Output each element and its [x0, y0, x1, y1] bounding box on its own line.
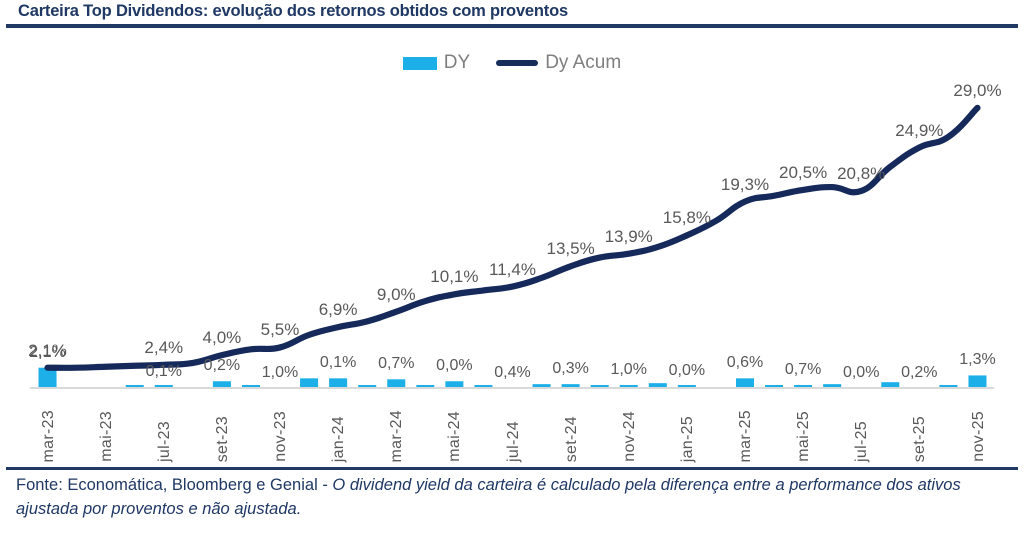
legend-item-label: DY [444, 52, 470, 74]
line-data-label-nov-25: 29,0% [953, 81, 1001, 101]
bar-mar-25 [736, 378, 754, 388]
page-title: Carteira Top Dividendos: evolução dos re… [18, 2, 568, 21]
bar-mar-24 [387, 379, 405, 388]
bar-data-label-nov-23: 1,0% [262, 364, 298, 382]
legend-item-dy-acum[interactable]: Dy Acum [496, 52, 621, 74]
x-tick-mai-24: mai-24 [446, 411, 464, 462]
footnote-prefix: Fonte: Economática, Bloomberg e Genial - [16, 476, 332, 494]
legend-bar-swatch-icon [403, 57, 437, 70]
bar-dez-23 [300, 378, 318, 388]
bar-jan-24 [329, 378, 347, 388]
line-series-dy-acum [48, 108, 978, 368]
footer-divider [6, 467, 1018, 470]
line-data-label-mai-24: 10,1% [430, 267, 478, 287]
chart-legend: DY Dy Acum [0, 52, 1024, 74]
bar-data-label-jan-25: 0,0% [669, 362, 705, 380]
legend-item-dy[interactable]: DY [403, 52, 470, 74]
bar-data-label-mar-24: 0,7% [378, 355, 414, 373]
legend-item-label: Dy Acum [545, 52, 621, 74]
x-tick-nov-24: nov-24 [621, 411, 639, 462]
bar-data-label-mar-25: 0,6% [727, 354, 763, 372]
x-axis-tick-labels: mar-23mai-23jul-23set-23nov-23jan-24mar-… [0, 392, 1024, 462]
line-data-label-mai-25: 20,5% [779, 163, 827, 183]
bar-data-label-jul-24: 0,4% [494, 364, 530, 382]
x-tick-set-24: set-24 [563, 416, 581, 462]
x-tick-nov-25: nov-25 [970, 411, 988, 462]
bar-data-label-mai-24: 0,0% [436, 357, 472, 375]
x-tick-mai-23: mai-23 [98, 411, 116, 462]
header-divider [6, 24, 1018, 28]
x-tick-jan-24: jan-24 [330, 416, 348, 462]
line-data-label-jul-24: 11,4% [489, 260, 536, 280]
x-tick-mar-25: mar-25 [737, 410, 755, 462]
bar-mai-24 [445, 381, 463, 388]
x-tick-set-25: set-25 [911, 416, 929, 462]
line-data-label-jan-24: 6,9% [319, 300, 358, 320]
x-tick-nov-23: nov-23 [272, 411, 290, 462]
chart-header: Carteira Top Dividendos: evolução dos re… [0, 0, 1024, 30]
bar-data-label-set-23: 0,2% [204, 357, 240, 375]
x-tick-jul-24: jul-24 [505, 421, 523, 462]
x-tick-set-23: set-23 [214, 416, 232, 462]
bar-data-label-mar-23: 2,1% [29, 344, 65, 362]
bar-data-label-set-24: 0,3% [552, 360, 588, 378]
line-data-label-nov-23: 5,5% [261, 320, 300, 340]
legend-line-swatch-icon [496, 60, 538, 66]
bar-data-label-nov-24: 1,0% [610, 361, 646, 379]
line-data-label-mar-24: 9,0% [377, 285, 416, 305]
x-tick-jan-25: jan-25 [679, 416, 697, 462]
line-data-label-jul-25: 20,8% [837, 164, 885, 184]
chart-plot-area: 2,1%2,4%4,0%5,5%6,9%9,0%10,1%11,4%13,5%1… [0, 80, 1024, 392]
bar-nov-25 [968, 375, 986, 388]
bar-data-label-mai-25: 0,7% [785, 361, 821, 379]
line-data-label-jan-25: 15,8% [663, 208, 711, 228]
x-tick-mai-25: mai-25 [795, 411, 813, 462]
line-data-label-jul-23: 2,4% [144, 338, 183, 358]
line-data-label-mar-25: 19,3% [721, 175, 769, 195]
x-tick-jul-25: jul-25 [853, 421, 871, 462]
x-tick-mar-23: mar-23 [40, 410, 58, 462]
line-data-label-set-23: 4,0% [203, 328, 242, 348]
line-data-label-nov-24: 13,9% [605, 227, 653, 247]
line-data-label-set-24: 13,5% [546, 239, 594, 259]
line-data-label-set-25: 24,9% [895, 121, 943, 141]
bar-data-label-jul-25: 0,0% [843, 364, 879, 382]
bar-data-label-jan-24: 0,1% [320, 354, 356, 372]
x-tick-jul-23: jul-23 [156, 421, 174, 462]
bar-data-label-nov-25: 1,3% [959, 351, 995, 369]
x-tick-mar-24: mar-24 [388, 410, 406, 462]
bar-data-label-jul-23: 0,1% [146, 363, 182, 381]
bar-data-label-set-25: 0,2% [901, 364, 937, 382]
source-footnote: Fonte: Economática, Bloomberg e Genial -… [16, 474, 1010, 522]
bar-set-23 [213, 381, 231, 388]
